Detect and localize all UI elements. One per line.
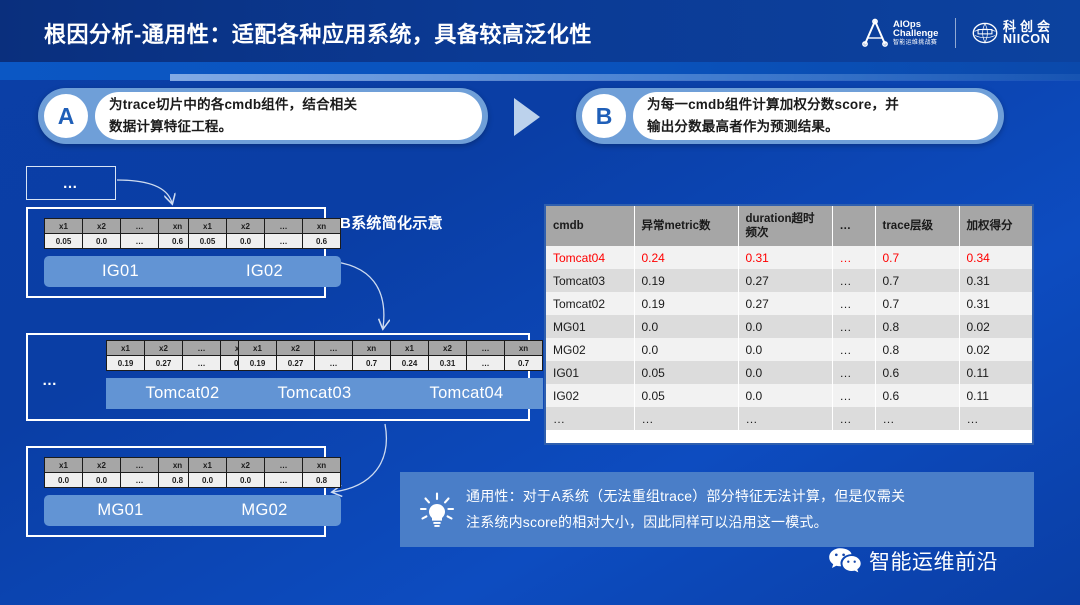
b-system-diagram-label: B系统简化示意 [340,212,443,233]
page-title: 根因分析-通用性：适配各种应用系统，具备较高泛化性 [44,17,592,49]
table-cell: MG02 [546,338,634,361]
header-accent-highlight [170,74,1080,81]
feat-head-x1: x1 [189,219,227,234]
table-cell: 0.27 [738,269,832,292]
feat-head-ellipsis: … [183,341,221,356]
table-cell: 0.0 [634,338,738,361]
callout-text: 通用性：对于A系统（无法重组trace）部分特征无法计算，但是仅需关 注系统内s… [466,484,905,536]
table-cell: Tomcat03 [546,269,634,292]
aiops-logo-line2: Challenge [893,29,938,39]
feat-head-x1: x1 [107,341,145,356]
feat-val-x1: 0.19 [239,356,277,371]
step-b-line1: 为每一cmdb组件计算加权分数score，并 [647,94,984,116]
feat-head-x2: x2 [83,458,121,473]
feat-val-x2: 0.0 [227,234,265,249]
feat-head-ellipsis: … [265,458,303,473]
feature-table-header-row: x1 x2 … xn [391,341,543,356]
table-row[interactable]: Tomcat020.190.27…0.70.31 [546,292,1032,315]
table-row[interactable]: IG010.050.0…0.60.11 [546,361,1032,384]
node-pill-mg01[interactable]: MG01 [44,495,197,526]
callout-line1: 通用性：对于A系统（无法重组trace）部分特征无法计算，但是仅需关 [466,484,905,510]
table-row[interactable]: ……………… [546,407,1032,430]
niicon-logo-en: NIICON [1003,33,1054,46]
table-cell: 0.0 [738,384,832,407]
table-row[interactable]: Tomcat030.190.27…0.70.31 [546,269,1032,292]
score-table-header-row: cmdb 异常metric数 duration超时频次 … trace层级 加权… [546,206,1032,246]
lightbulb-icon [414,487,460,533]
feature-table-value-row: 0.19 0.27 … 0.7 [239,356,391,371]
step-b-line2: 输出分数最高者作为预测结果。 [647,116,984,138]
feat-head-x2: x2 [83,219,121,234]
step-a-badge: A [44,94,88,138]
table-cell: MG01 [546,315,634,338]
feat-val-ellipsis: … [121,473,159,488]
table-cell: … [832,361,875,384]
feat-val-xn: 0.8 [303,473,341,488]
feature-table-value-row: 0.19 0.27 … 0.7 [107,356,259,371]
feature-table-value-row: 0.0 0.0 … 0.8 [189,473,341,488]
feature-block-mg02: x1 x2 … xn 0.0 0.0 … 0.8 MG02 [188,457,341,526]
feat-head-x1: x1 [239,341,277,356]
feat-val-x1: 0.0 [45,473,83,488]
table-cell: … [875,407,959,430]
table-row[interactable]: MG020.00.0…0.80.02 [546,338,1032,361]
feature-table-ig02: x1 x2 … xn 0.05 0.0 … 0.6 [188,218,341,249]
step-a-line1: 为trace切片中的各cmdb组件，结合相关 [109,94,468,116]
feat-head-x2: x2 [227,219,265,234]
feat-val-ellipsis: … [183,356,221,371]
feat-head-ellipsis: … [315,341,353,356]
table-cell: 0.6 [875,361,959,384]
logo-divider [955,18,956,48]
node-pill-mg02[interactable]: MG02 [188,495,341,526]
aiops-lambda-icon [862,18,888,48]
table-cell: 0.31 [738,246,832,269]
feature-table-tomcat02: x1 x2 … xn 0.19 0.27 … 0.7 [106,340,259,371]
feat-val-x2: 0.0 [227,473,265,488]
wechat-watermark: 智能运维前沿 [828,546,998,576]
table-cell: 0.0 [634,315,738,338]
table-cell: 0.27 [738,292,832,315]
feat-head-x2: x2 [277,341,315,356]
feature-block-tomcat04: x1 x2 … xn 0.24 0.31 … 0.7 Tomcat04 [390,340,543,409]
node-pill-tomcat02[interactable]: Tomcat02 [106,378,259,409]
feat-head-x2: x2 [227,458,265,473]
node-pill-tomcat03[interactable]: Tomcat03 [238,378,391,409]
table-cell: 0.0 [738,361,832,384]
feature-table-value-row: 0.0 0.0 … 0.8 [45,473,197,488]
ellipsis-box: … [26,166,116,200]
feat-val-ellipsis: … [467,356,505,371]
watermark-text: 智能运维前沿 [869,546,998,576]
table-cell: 0.0 [738,315,832,338]
table-cell: 0.8 [875,315,959,338]
feat-val-x2: 0.0 [83,234,121,249]
feature-table-header-row: x1 x2 … xn [239,341,391,356]
step-b-body: 为每一cmdb组件计算加权分数score，并 输出分数最高者作为预测结果。 [633,92,998,140]
col-header-ellipsis[interactable]: … [832,206,875,246]
feat-val-x2: 0.27 [145,356,183,371]
table-cell: 0.11 [959,384,1032,407]
niicon-globe-seal-icon [972,18,998,48]
feature-table-value-row: 0.24 0.31 … 0.7 [391,356,543,371]
feat-head-ellipsis: … [265,219,303,234]
col-header-cmdb[interactable]: cmdb [546,206,634,246]
feature-table-mg02: x1 x2 … xn 0.0 0.0 … 0.8 [188,457,341,488]
node-pill-ig01[interactable]: IG01 [44,256,197,287]
table-cell: 0.05 [634,361,738,384]
feat-val-ellipsis: … [265,234,303,249]
table-cell: 0.19 [634,292,738,315]
table-cell: 0.24 [634,246,738,269]
table-cell: Tomcat02 [546,292,634,315]
feat-head-x2: x2 [429,341,467,356]
feat-val-xn: 0.7 [505,356,543,371]
table-row[interactable]: IG020.050.0…0.60.11 [546,384,1032,407]
feature-table-mg01: x1 x2 … xn 0.0 0.0 … 0.8 [44,457,197,488]
node-pill-ig02[interactable]: IG02 [188,256,341,287]
feature-block-ig02: x1 x2 … xn 0.05 0.0 … 0.6 IG02 [188,218,341,287]
table-cell: … [832,407,875,430]
table-cell: IG02 [546,384,634,407]
feat-head-ellipsis: … [467,341,505,356]
feat-val-x1: 0.05 [189,234,227,249]
table-cell: … [832,292,875,315]
feature-table-tomcat03: x1 x2 … xn 0.19 0.27 … 0.7 [238,340,391,371]
step-card-a: A 为trace切片中的各cmdb组件，结合相关 数据计算特征工程。 [38,88,488,144]
col-header-metric[interactable]: 异常metric数 [634,206,738,246]
table-cell: 0.05 [634,384,738,407]
table-row[interactable]: MG010.00.0…0.80.02 [546,315,1032,338]
table-cell: … [738,407,832,430]
feat-head-ellipsis: … [121,458,159,473]
connector-dots-to-ig [117,180,172,203]
feature-block-tomcat03: x1 x2 … xn 0.19 0.27 … 0.7 Tomcat03 [238,340,391,409]
feat-val-x2: 0.31 [429,356,467,371]
ellipsis-box-label: … [63,176,80,191]
table-cell: 0.7 [875,292,959,315]
table-cell: 0.02 [959,315,1032,338]
feature-block-ig01: x1 x2 … xn 0.05 0.0 … 0.6 IG01 [44,218,197,287]
aiops-challenge-logo: AIOps Challenge 智能运维挑战赛 [862,18,938,48]
table-cell: 0.6 [875,384,959,407]
table-cell: 0.19 [634,269,738,292]
feat-val-x2: 0.27 [277,356,315,371]
table-cell: … [546,407,634,430]
table-cell: … [832,246,875,269]
table-cell: 0.0 [738,338,832,361]
feat-val-x1: 0.05 [45,234,83,249]
slide-canvas: 根因分析-通用性：适配各种应用系统，具备较高泛化性 AIOps Challeng… [0,0,1080,605]
feature-table-header-row: x1 x2 … xn [45,219,197,234]
feat-head-xn: xn [303,219,341,234]
feat-val-xn: 0.7 [353,356,391,371]
score-table-head: cmdb 异常metric数 duration超时频次 … trace层级 加权… [546,206,1032,246]
table-cell: … [832,384,875,407]
feature-table-header-row: x1 x2 … xn [189,458,341,473]
table-cell: IG01 [546,361,634,384]
table-cell: … [959,407,1032,430]
feat-head-xn: xn [505,341,543,356]
feat-val-xn: 0.6 [303,234,341,249]
feat-head-xn: xn [353,341,391,356]
feat-head-x2: x2 [145,341,183,356]
table-cell: 0.11 [959,361,1032,384]
table-cell: Tomcat04 [546,246,634,269]
feat-head-ellipsis: … [121,219,159,234]
feature-table-header-row: x1 x2 … xn [45,458,197,473]
aiops-logo-line3: 智能运维挑战赛 [893,40,938,46]
col-header-weighted-score[interactable]: 加权得分 [959,206,1032,246]
feat-head-x1: x1 [189,458,227,473]
step-card-b: B 为每一cmdb组件计算加权分数score，并 输出分数最高者作为预测结果。 [576,88,1004,144]
table-cell: 0.34 [959,246,1032,269]
wechat-icon [828,547,862,575]
score-table-container: cmdb 异常metric数 duration超时频次 … trace层级 加权… [544,204,1034,445]
triangle-right-icon [514,98,540,136]
score-table: cmdb 异常metric数 duration超时频次 … trace层级 加权… [546,206,1032,430]
table-cell: … [634,407,738,430]
table-cell: … [832,315,875,338]
table-cell: 0.02 [959,338,1032,361]
feature-table-ig01: x1 x2 … xn 0.05 0.0 … 0.6 [44,218,197,249]
feature-block-mg01: x1 x2 … xn 0.0 0.0 … 0.8 MG01 [44,457,197,526]
feature-table-header-row: x1 x2 … xn [189,219,341,234]
table-cell: … [832,269,875,292]
node-pill-tomcat04[interactable]: Tomcat04 [390,378,543,409]
table-cell: 0.31 [959,292,1032,315]
feat-val-ellipsis: … [121,234,159,249]
feature-table-value-row: 0.05 0.0 … 0.6 [189,234,341,249]
niicon-logo: 科创会 NIICON [972,18,1054,48]
feature-table-value-row: 0.05 0.0 … 0.6 [45,234,197,249]
feat-val-x1: 0.0 [189,473,227,488]
step-a-body: 为trace切片中的各cmdb组件，结合相关 数据计算特征工程。 [95,92,482,140]
feature-table-tomcat04: x1 x2 … xn 0.24 0.31 … 0.7 [390,340,543,371]
step-a-line2: 数据计算特征工程。 [109,116,468,138]
score-table-body: Tomcat040.240.31…0.70.34Tomcat030.190.27… [546,246,1032,430]
col-header-duration[interactable]: duration超时频次 [738,206,832,246]
feat-val-x2: 0.0 [83,473,121,488]
feat-val-ellipsis: … [265,473,303,488]
table-cell: 0.8 [875,338,959,361]
table-cell: … [832,338,875,361]
feature-block-tomcat02: x1 x2 … xn 0.19 0.27 … 0.7 Tomcat02 [106,340,259,409]
tomcat-group-ellipsis: … [42,372,59,389]
table-cell: 0.7 [875,269,959,292]
table-row[interactable]: Tomcat040.240.31…0.70.34 [546,246,1032,269]
feature-table-header-row: x1 x2 … xn [107,341,259,356]
feat-head-x1: x1 [391,341,429,356]
feat-head-x1: x1 [45,458,83,473]
step-b-badge: B [582,94,626,138]
callout-line2: 注系统内score的相对大小，因此同样可以沿用这一模式。 [466,510,905,536]
col-header-trace-level[interactable]: trace层级 [875,206,959,246]
table-cell: 0.7 [875,246,959,269]
feat-val-x1: 0.24 [391,356,429,371]
feat-head-xn: xn [303,458,341,473]
callout-box: 通用性：对于A系统（无法重组trace）部分特征无法计算，但是仅需关 注系统内s… [400,472,1034,547]
feat-val-x1: 0.19 [107,356,145,371]
feat-head-x1: x1 [45,219,83,234]
feat-val-ellipsis: … [315,356,353,371]
table-cell: 0.31 [959,269,1032,292]
connector-tomcat-to-mg [333,424,386,492]
